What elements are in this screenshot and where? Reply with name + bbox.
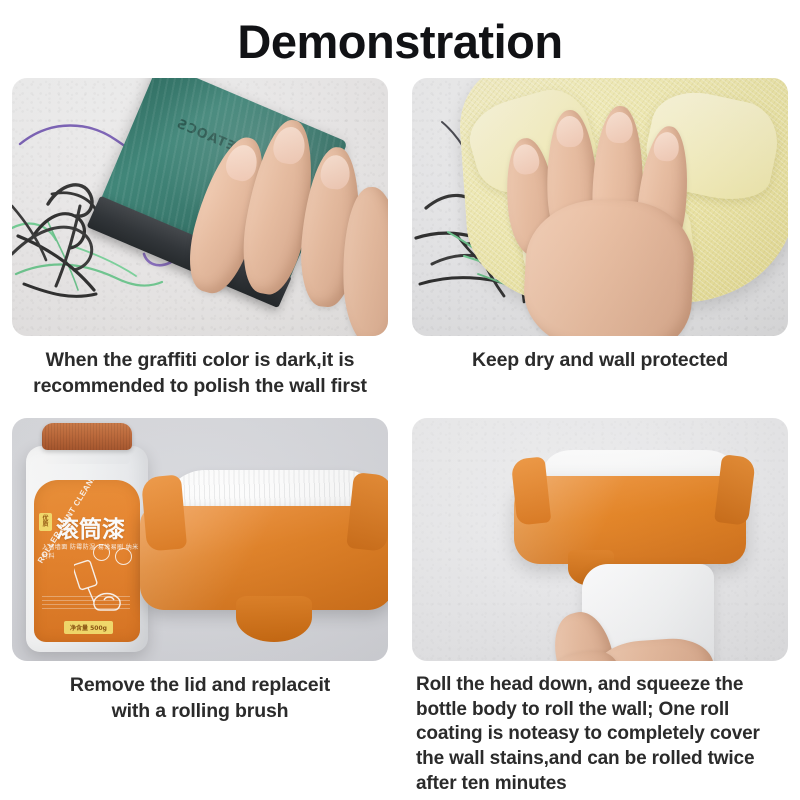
roller-stem xyxy=(236,596,312,642)
palm xyxy=(521,196,697,336)
photo-paint-bottle-and-roller-head: 优质 滚筒漆 入墙墙面 防霉防湿 易涂易刷 纳米材料 ROLLER PAINT … xyxy=(12,418,388,661)
caption-line: the wall stains,and can be rolled twice xyxy=(416,748,754,769)
bottle-label: 优质 滚筒漆 入墙墙面 防霉防湿 易涂易刷 纳米材料 ROLLER PAINT … xyxy=(34,480,140,642)
step-1: QETAOCS 8 SH xyxy=(0,78,400,400)
caption-line: Keep dry and wall protected xyxy=(472,349,728,371)
hand xyxy=(507,104,757,336)
label-net-weight: 净含量 500g xyxy=(64,621,113,634)
step-4: Roll the head down, and squeeze the bott… xyxy=(400,418,800,796)
fingernail xyxy=(605,112,633,144)
step-2-caption: Keep dry and wall protected xyxy=(412,336,788,374)
fingernail xyxy=(512,143,541,176)
fingernail xyxy=(556,116,584,148)
step-3: 优质 滚筒漆 入墙墙面 防霉防湿 易涂易刷 纳米材料 ROLLER PAINT … xyxy=(0,418,400,796)
steps-row-bottom: 优质 滚筒漆 入墙墙面 防霉防湿 易涂易刷 纳米材料 ROLLER PAINT … xyxy=(0,418,800,796)
step-4-caption: Roll the head down, and squeeze the bott… xyxy=(412,661,788,796)
caption-line: bottle body to roll the wall; One roll xyxy=(416,699,729,720)
hand xyxy=(191,101,388,336)
steps-row-top: QETAOCS 8 SH xyxy=(0,78,800,400)
fingernail xyxy=(653,131,681,162)
roller-arm-left xyxy=(511,456,552,525)
step-2: Keep dry and wall protected xyxy=(400,78,800,400)
photo-sanding-block-on-graffiti-wall: QETAOCS 8 SH xyxy=(12,78,388,336)
step-1-caption: When the graffiti color is dark,it is re… xyxy=(12,336,388,400)
caption-line: Remove the lid and replaceit xyxy=(70,674,330,696)
paint-bottle: 优质 滚筒漆 入墙墙面 防霉防湿 易涂易刷 纳米材料 ROLLER PAINT … xyxy=(26,424,148,652)
fingernail xyxy=(271,124,308,166)
page-title: Demonstration xyxy=(0,0,800,60)
roller-arm-right xyxy=(346,472,388,552)
hand xyxy=(550,590,740,661)
steps-grid: QETAOCS 8 SH xyxy=(0,78,800,796)
fingernail xyxy=(319,154,351,190)
caption-line: after ten minutes xyxy=(416,773,567,794)
caption-line: Roll the head down, and squeeze the xyxy=(416,674,743,695)
photo-rolling-paint-on-wall xyxy=(412,418,788,661)
bottle-cap xyxy=(42,423,132,450)
step-3-caption: Remove the lid and replaceit with a roll… xyxy=(12,661,388,725)
caption-line: with a rolling brush xyxy=(112,700,289,722)
label-fine-print xyxy=(42,596,130,612)
roller-arm-right xyxy=(714,454,756,526)
photo-wiping-wall-with-yellow-cloth xyxy=(412,78,788,336)
caption-line: When the graffiti color is dark,it is xyxy=(46,349,355,371)
demonstration-page: Demonstration xyxy=(0,0,800,800)
caption-line: coating is noteasy to completely cover xyxy=(416,723,760,744)
caption-line: recommended to polish the wall first xyxy=(33,375,367,397)
roller-arm-left xyxy=(141,474,187,551)
label-badge: 优质 xyxy=(39,513,52,532)
roller-head xyxy=(140,470,388,652)
